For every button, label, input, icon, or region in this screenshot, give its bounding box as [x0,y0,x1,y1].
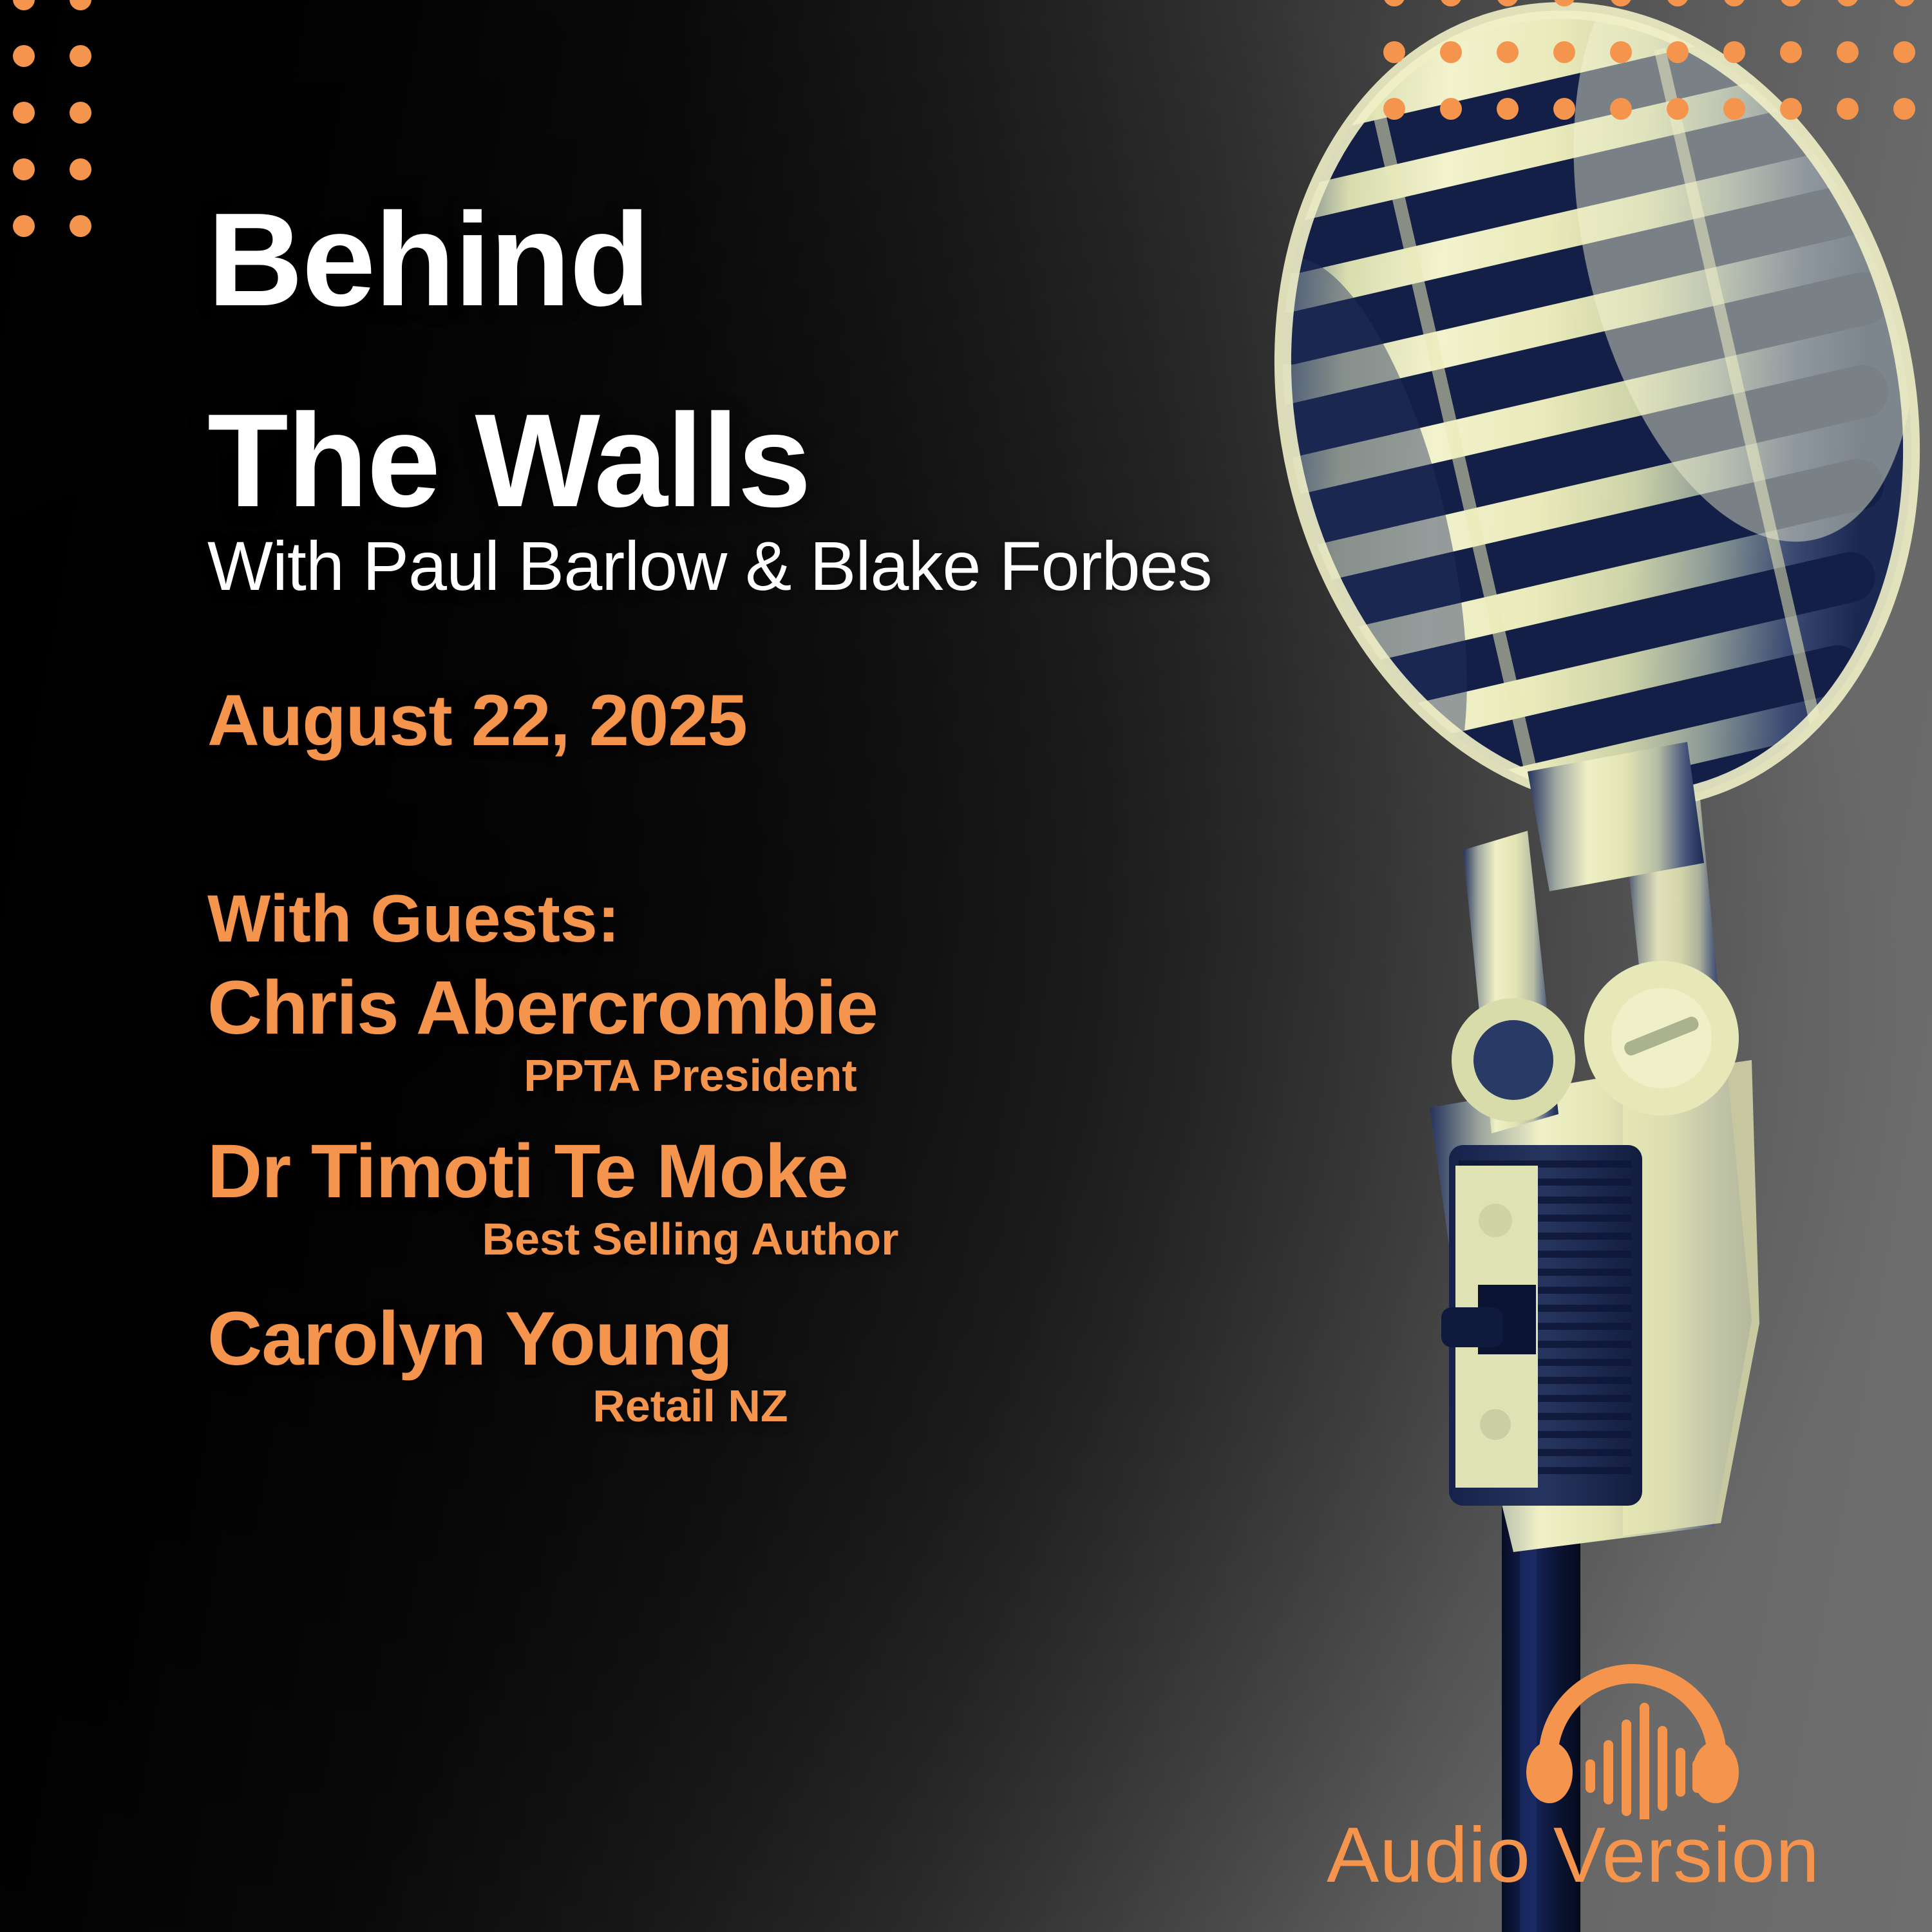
dot [70,102,91,124]
dot [1383,98,1405,120]
guests-label: With Guests: [207,885,1212,952]
dot [1440,0,1462,6]
dot [70,215,91,237]
dot [1667,41,1689,63]
dot [1610,98,1632,120]
dot [1440,41,1462,63]
dot [1610,41,1632,63]
dot [1893,98,1915,120]
dot [1497,0,1519,6]
dot [1837,41,1859,63]
dot [13,0,35,10]
audio-version-badge: Audio Version [1327,1662,1893,1894]
dot [70,158,91,180]
dot [1553,0,1575,6]
dot [1383,0,1405,6]
dot [1610,0,1632,6]
dot [13,45,35,67]
dot [1497,41,1519,63]
dot [1667,98,1689,120]
dot [1440,98,1462,120]
episode-copy-block: Behind The Walls With Paul Barlow & Blak… [207,193,1212,1450]
dot [1780,0,1802,6]
guest-entry: Chris Abercrombie PPTA President [207,969,1212,1099]
guest-role: Best Selling Author [207,1216,1212,1264]
headphones-waveform-icon [1526,1662,1739,1819]
dot [1723,41,1745,63]
episode-date: August 22, 2025 [207,685,1212,757]
dot [13,102,35,124]
dot [1553,41,1575,63]
podcast-title-line2: The Walls [207,394,1212,527]
dot [1723,0,1745,6]
dot [1667,0,1689,6]
dot [1497,98,1519,120]
guest-entry: Dr Timoti Te Moke Best Selling Author [207,1133,1212,1263]
guest-role: Retail NZ [207,1383,1212,1430]
guest-name: Chris Abercrombie [207,969,1212,1046]
guest-name: Carolyn Young [207,1300,1212,1378]
dot [1893,0,1915,6]
dot [13,158,35,180]
dot-grid-icon-right [1383,0,1932,155]
dot [1837,0,1859,6]
audio-version-label: Audio Version [1327,1815,1893,1894]
dot-grid-icon-left [13,0,126,272]
dot [1723,98,1745,120]
guest-entry: Carolyn Young Retail NZ [207,1300,1212,1430]
dot [1837,98,1859,120]
guest-role: PPTA President [207,1052,1212,1100]
dot [1553,98,1575,120]
dot [1383,41,1405,63]
podcast-title-line1: Behind [207,193,1212,326]
guest-name: Dr Timoti Te Moke [207,1133,1212,1210]
dot [1780,41,1802,63]
dot [70,45,91,67]
dot [70,0,91,10]
podcast-hosts: With Paul Barlow & Blake Forbes [207,529,1212,602]
dot [1780,98,1802,120]
podcast-cover-art: Behind The Walls With Paul Barlow & Blak… [0,0,1932,1932]
dot [1893,41,1915,63]
dot [13,215,35,237]
